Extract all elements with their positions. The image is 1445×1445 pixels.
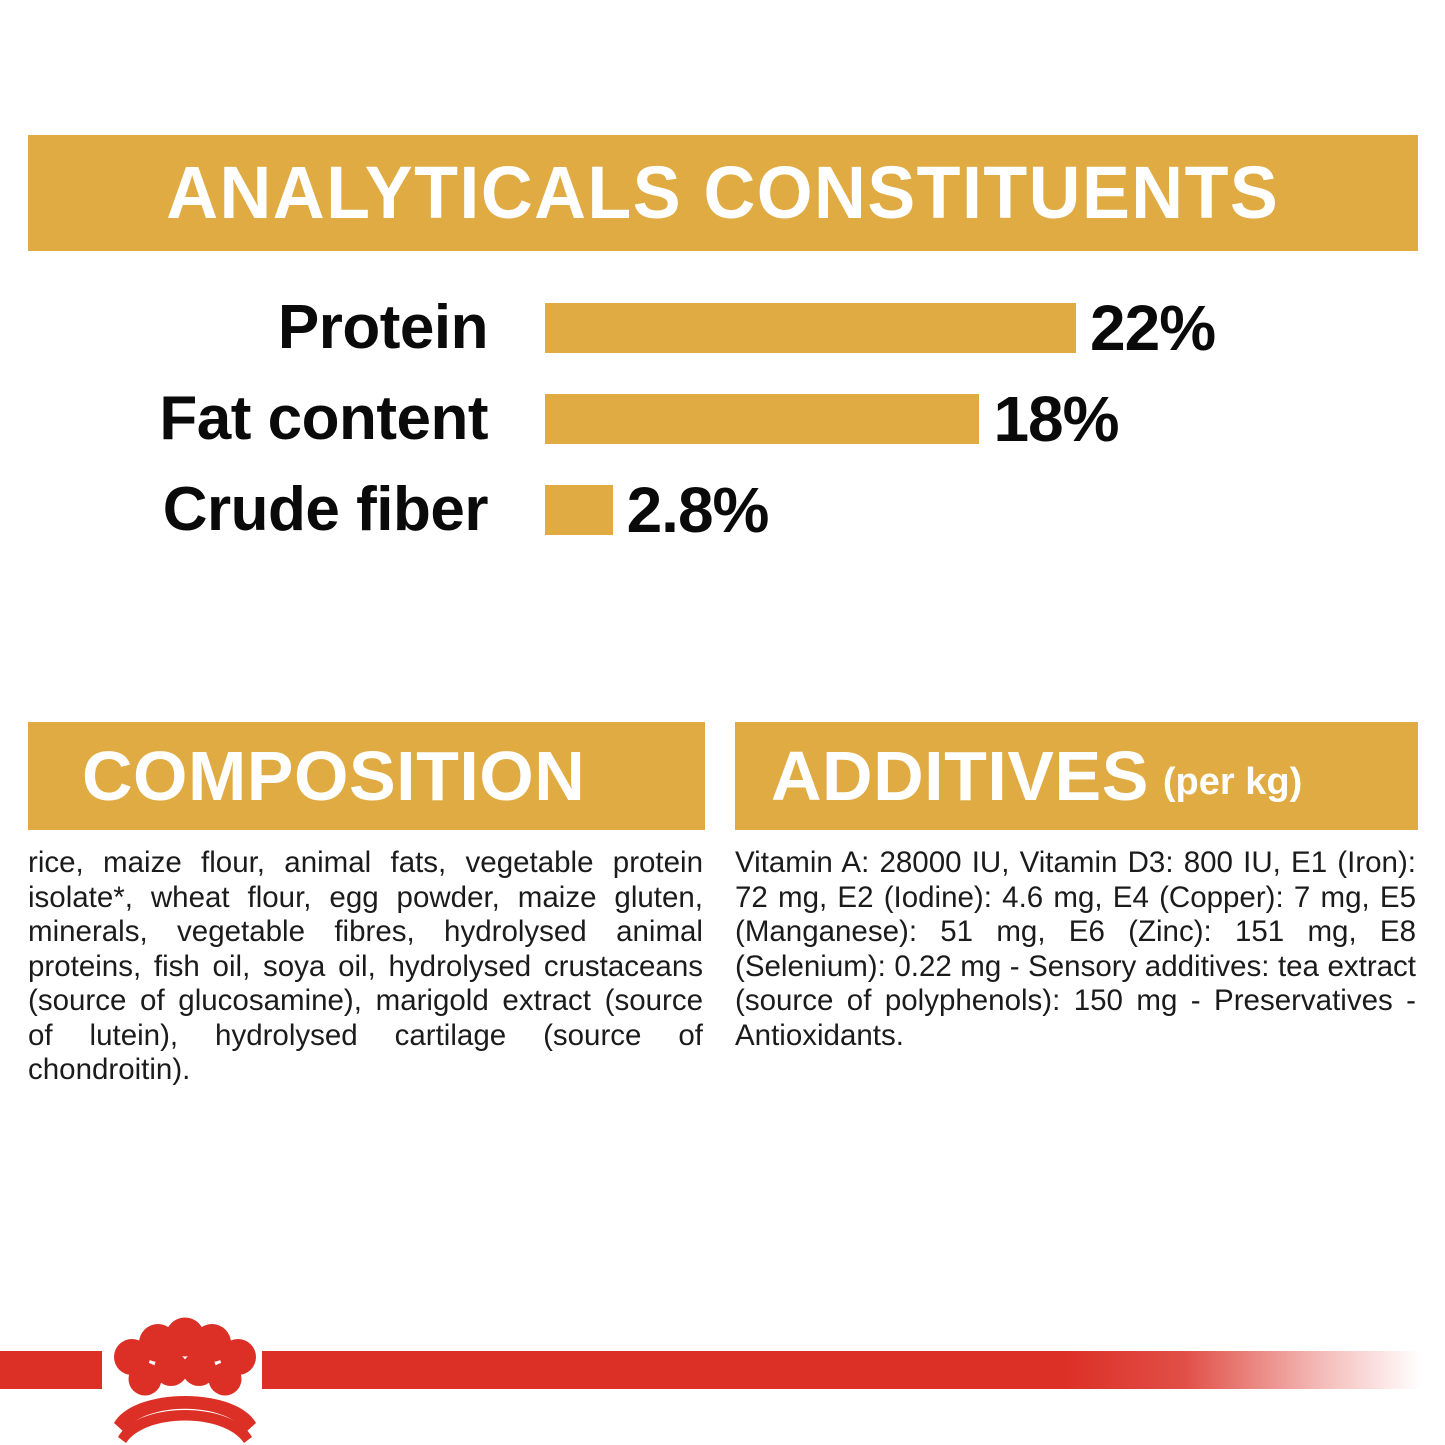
composition-title: COMPOSITION — [82, 741, 585, 811]
chart-bar-group: 22% — [545, 296, 1215, 360]
additives-body-text: Vitamin A: 28000 IU, Vitamin D3: 800 IU,… — [735, 846, 1418, 1053]
chart-bar-group: 18% — [545, 387, 1119, 451]
chart-value-label: 2.8% — [627, 478, 769, 542]
analyticals-constituents-band: ANALYTICALS CONSTITUENTS — [28, 135, 1418, 251]
brand-footer — [0, 1295, 1445, 1445]
additives-header-band: ADDITIVES (per kg) — [735, 722, 1418, 830]
footer-rule-right — [262, 1351, 1445, 1389]
composition-header-band: COMPOSITION — [28, 722, 705, 830]
chart-bar — [545, 485, 613, 535]
chart-value-label: 18% — [993, 387, 1118, 451]
composition-body-text: rice, maize flour, animal fats, vegetabl… — [28, 846, 705, 1088]
chart-row: Crude fiber 2.8% — [0, 464, 1445, 555]
footer-rule-left — [0, 1351, 102, 1389]
chart-bar — [545, 394, 979, 444]
chart-value-label: 22% — [1090, 296, 1215, 360]
additives-panel: ADDITIVES (per kg) Vitamin A: 28000 IU, … — [735, 722, 1418, 1053]
chart-category-label: Crude fiber — [163, 479, 488, 541]
royal-canin-crown-icon — [100, 1301, 270, 1445]
additives-title: ADDITIVES — [771, 741, 1149, 811]
additives-unit-label: (per kg) — [1163, 763, 1302, 801]
chart-bar — [545, 303, 1076, 353]
chart-row: Fat content 18% — [0, 373, 1445, 464]
chart-category-label: Protein — [278, 297, 488, 359]
composition-panel: COMPOSITION rice, maize flour, animal fa… — [28, 722, 705, 1088]
chart-bar-group: 2.8% — [545, 478, 768, 542]
analyticals-constituents-title: ANALYTICALS CONSTITUENTS — [166, 156, 1279, 230]
analyticals-bar-chart: Protein 22% Fat content 18% Crude fiber … — [0, 282, 1445, 555]
chart-row: Protein 22% — [0, 282, 1445, 373]
chart-category-label: Fat content — [159, 388, 488, 450]
